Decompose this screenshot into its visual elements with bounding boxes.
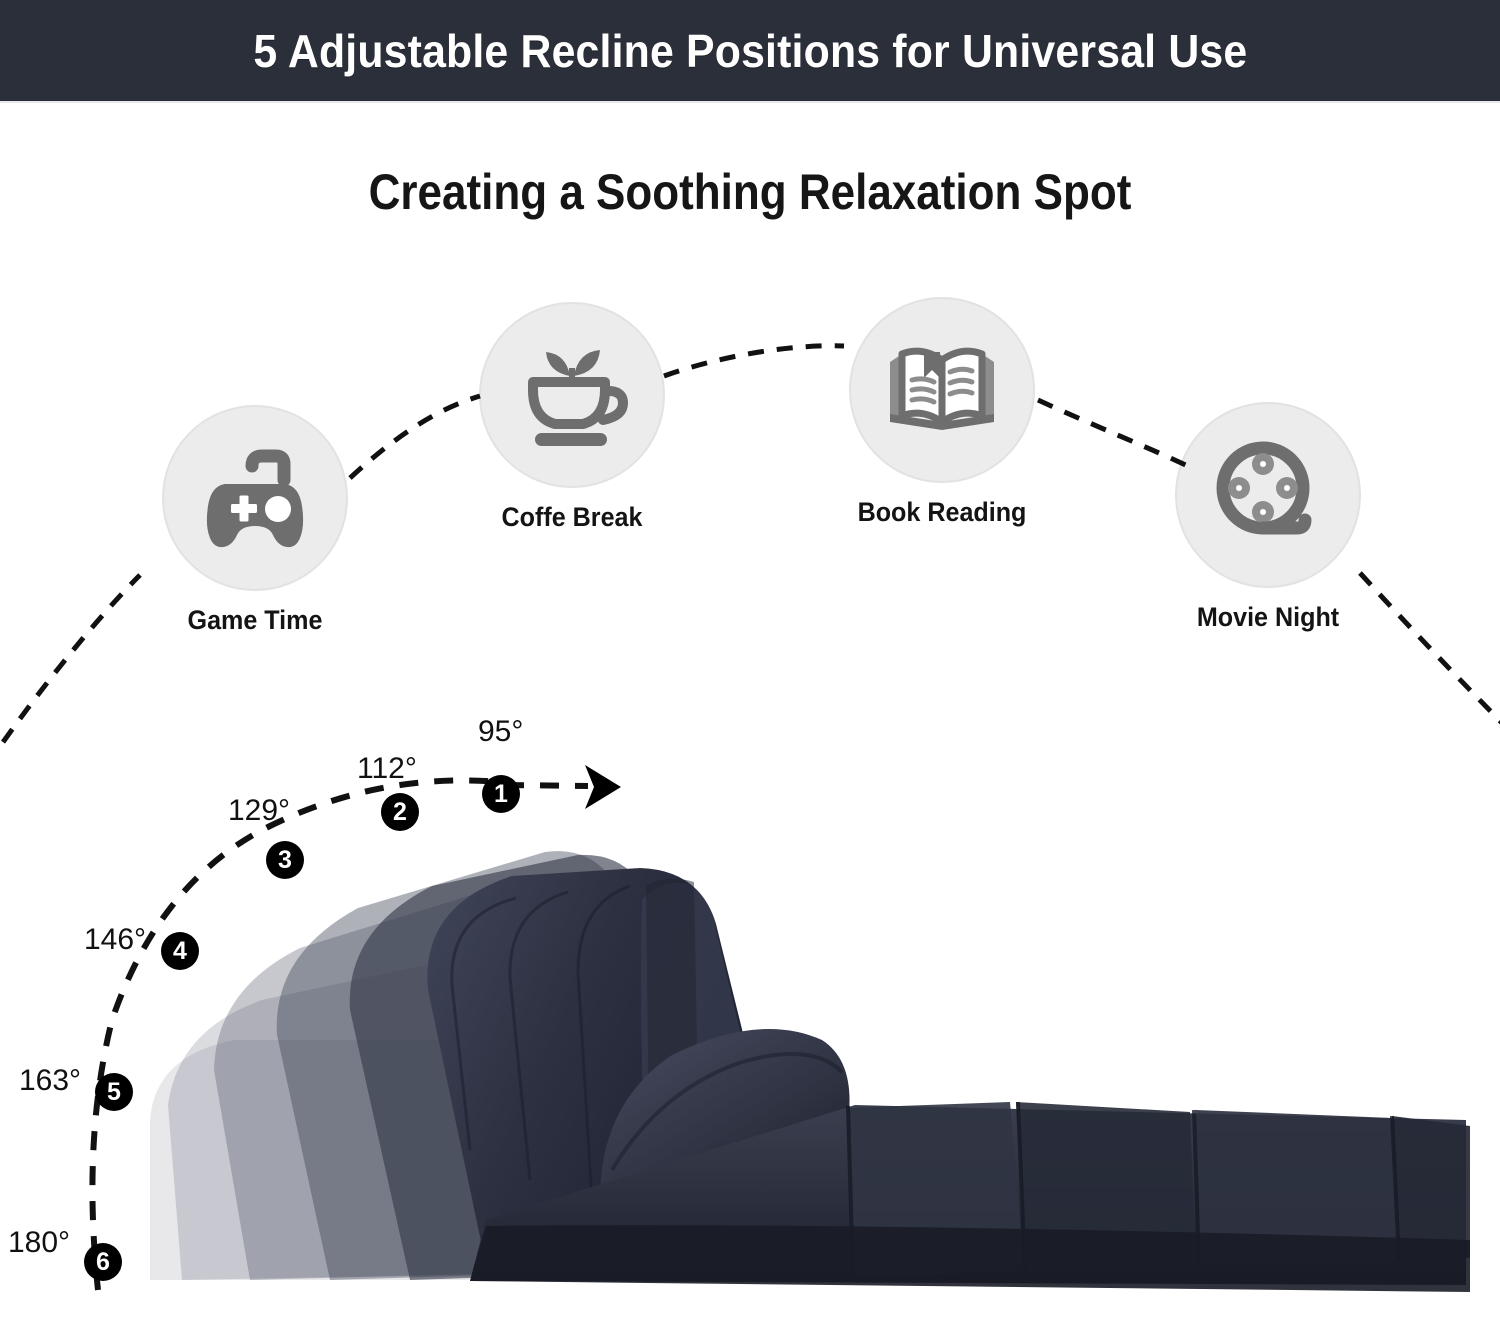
- activity-label: Coffe Break: [479, 502, 665, 533]
- angle-label-146: 146°: [84, 923, 146, 957]
- activity-label: Game Time: [162, 605, 348, 636]
- angle-label-95: 95°: [478, 715, 523, 749]
- angle-label-129: 129°: [228, 794, 290, 828]
- coffee-cup-icon: [511, 334, 633, 456]
- header-banner: 5 Adjustable Recline Positions for Unive…: [0, 0, 1500, 103]
- gamepad-icon: [195, 438, 315, 558]
- recline-step-badge[interactable]: 2: [381, 793, 419, 831]
- film-reel-icon: [1207, 434, 1329, 556]
- recline-step-badge[interactable]: 1: [482, 775, 520, 813]
- activity-label: Movie Night: [1175, 602, 1361, 633]
- recline-step-badge[interactable]: 3: [266, 841, 304, 879]
- recline-step-badge[interactable]: 4: [161, 932, 199, 970]
- activity-movie-night[interactable]: Movie Night: [1168, 402, 1368, 633]
- activity-game-time[interactable]: Game Time: [155, 405, 355, 636]
- activity-icon-circle: [162, 405, 348, 591]
- activity-icon-circle: [849, 297, 1035, 483]
- ghost-backrest-positions: [150, 851, 756, 1280]
- angle-label-112: 112°: [357, 752, 417, 786]
- lumbar-pillow: [600, 1029, 850, 1214]
- recline-step-badge[interactable]: 6: [84, 1243, 122, 1281]
- recline-step-badge[interactable]: 5: [95, 1073, 133, 1111]
- recline-arrowhead: [585, 765, 621, 809]
- subtitle-heading: Creating a Soothing Relaxation Spot: [90, 163, 1410, 221]
- seat-base: [470, 1105, 1466, 1285]
- activity-book-reading[interactable]: Book Reading: [842, 297, 1042, 528]
- activity-icon-circle: [479, 302, 665, 488]
- angle-label-163: 163°: [19, 1064, 81, 1098]
- activity-icon-circle: [1175, 402, 1361, 588]
- activity-coffee-break[interactable]: Coffe Break: [472, 302, 672, 533]
- angle-label-180: 180°: [8, 1226, 70, 1260]
- page-title: 5 Adjustable Recline Positions for Unive…: [253, 24, 1247, 78]
- open-book-icon: [880, 328, 1004, 452]
- activity-label: Book Reading: [849, 497, 1035, 528]
- backrest-main: [427, 868, 800, 1270]
